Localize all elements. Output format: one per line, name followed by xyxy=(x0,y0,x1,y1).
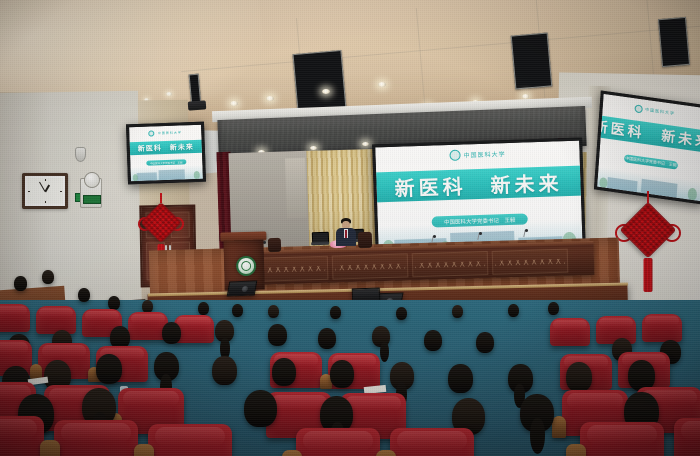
left-screen-slide: 中国医科大学 新医科 新未来 中国医科大学党委书记 王毅 xyxy=(129,125,203,181)
downlight xyxy=(230,101,238,106)
slide-subtitle-text: 中国医科大学党委书记 王毅 xyxy=(625,155,677,168)
seat-armrest xyxy=(566,444,586,456)
seat-armrest xyxy=(40,440,60,456)
seat[interactable] xyxy=(296,428,380,456)
right-screen-slide: 中国医科大学 新医科 新未来 中国医科大学党委书记 王毅 xyxy=(597,94,700,201)
knot-hanging-cord xyxy=(160,193,162,203)
seat-highlight xyxy=(587,425,658,444)
microphone-head-icon xyxy=(433,235,436,238)
seat[interactable] xyxy=(54,420,138,456)
auditorium-photo: 中国医科大学 新医科 新未来 中国医科大学党委书记 王毅 中国医科大学 xyxy=(0,0,700,456)
stage-downlight xyxy=(362,142,369,146)
seat-highlight xyxy=(303,431,374,450)
slide-headline: 新医科 新未来 xyxy=(394,167,563,202)
knot-body xyxy=(140,202,181,243)
acoustic-panel xyxy=(293,50,347,113)
university-crest-icon xyxy=(634,104,642,113)
seat[interactable] xyxy=(148,424,232,456)
clock-minute-hand xyxy=(39,182,45,192)
downlight xyxy=(378,82,386,87)
stage-back-wall-panel xyxy=(285,158,307,219)
seat-highlight xyxy=(61,423,132,442)
seat-armrest xyxy=(282,450,302,456)
illustration-tree xyxy=(133,174,138,181)
slide-logo: 中国医科大学 xyxy=(449,148,505,161)
slide-logo-text: 中国医科大学 xyxy=(645,107,675,117)
audience-head xyxy=(42,270,54,284)
downlight xyxy=(322,89,330,94)
alarm-bell-icon xyxy=(84,172,100,188)
seat-highlight xyxy=(681,421,700,440)
right-screen[interactable]: 中国医科大学 新医科 新未来 中国医科大学党委书记 王毅 xyxy=(594,90,700,204)
knot-body xyxy=(620,202,677,259)
slide-logo-text: 中国医科大学 xyxy=(463,149,505,159)
seat-highlight xyxy=(0,419,37,438)
seat-armrest xyxy=(376,450,396,456)
slide-logo-text: 中国医科大学 xyxy=(158,130,182,135)
slide-campus-illustration xyxy=(130,165,202,182)
slide-logo: 中国医科大学 xyxy=(634,104,675,118)
illustration-building xyxy=(137,172,157,181)
slide-subtitle-text: 中国医科大学党委书记 王毅 xyxy=(150,160,183,165)
illustration-tree xyxy=(599,177,608,188)
seat-highlight xyxy=(397,431,468,450)
acoustic-panel xyxy=(511,32,553,89)
microphone-head-icon xyxy=(479,232,482,235)
university-crest-icon xyxy=(449,150,460,161)
projector xyxy=(188,100,207,110)
university-crest-icon xyxy=(149,130,155,136)
clock-tick xyxy=(60,191,62,192)
slide-headline-band: 新医科 新未来 xyxy=(130,140,202,156)
alarm-status-light xyxy=(83,195,101,204)
laptop-left[interactable] xyxy=(312,232,328,246)
seat[interactable] xyxy=(0,416,44,456)
ceiling-camera-icon xyxy=(75,147,86,162)
seat-highlight xyxy=(155,427,226,446)
left-screen[interactable]: 中国医科大学 新医科 新未来 中国医科大学党委书记 王毅 xyxy=(126,122,206,185)
downlight xyxy=(166,92,172,96)
emergency-alarm-panel xyxy=(80,178,102,208)
stage-downlight xyxy=(310,146,317,150)
seat[interactable] xyxy=(674,418,700,456)
speaker-tie xyxy=(345,230,347,238)
slide-headline: 新医科 新未来 xyxy=(138,142,194,154)
slide-subtitle-pill: 中国医科大学党委书记 王毅 xyxy=(624,154,678,170)
slide-headline-band: 新医科 新未来 xyxy=(601,116,700,152)
seat[interactable] xyxy=(580,422,664,456)
clock-face xyxy=(27,178,63,204)
seat-armrest xyxy=(134,444,154,456)
knot-hanging-cord xyxy=(647,191,649,203)
empty-chair xyxy=(268,238,281,252)
slide-logo: 中国医科大学 xyxy=(149,129,182,136)
clock-tick xyxy=(45,201,46,203)
stage-speaker xyxy=(334,218,358,248)
speaker-chair xyxy=(358,232,373,248)
clock-tick xyxy=(28,191,30,192)
illustration-tree xyxy=(687,187,697,200)
illustration-tree xyxy=(194,171,200,179)
laptop-keyboard xyxy=(311,242,329,246)
seat[interactable] xyxy=(390,428,474,456)
illustration-building xyxy=(607,177,638,192)
audience-head xyxy=(14,276,27,291)
seat-row-front xyxy=(0,412,700,456)
clock-tick xyxy=(45,179,46,181)
slide-headline: 新医科 新未来 xyxy=(597,116,700,153)
microphone-head-icon xyxy=(525,229,528,232)
downlight xyxy=(266,96,274,101)
slide-headline-band: 新医科 新未来 xyxy=(376,166,581,203)
acoustic-panel xyxy=(658,17,690,67)
illustration-building xyxy=(159,169,185,180)
wall-clock xyxy=(22,173,68,209)
